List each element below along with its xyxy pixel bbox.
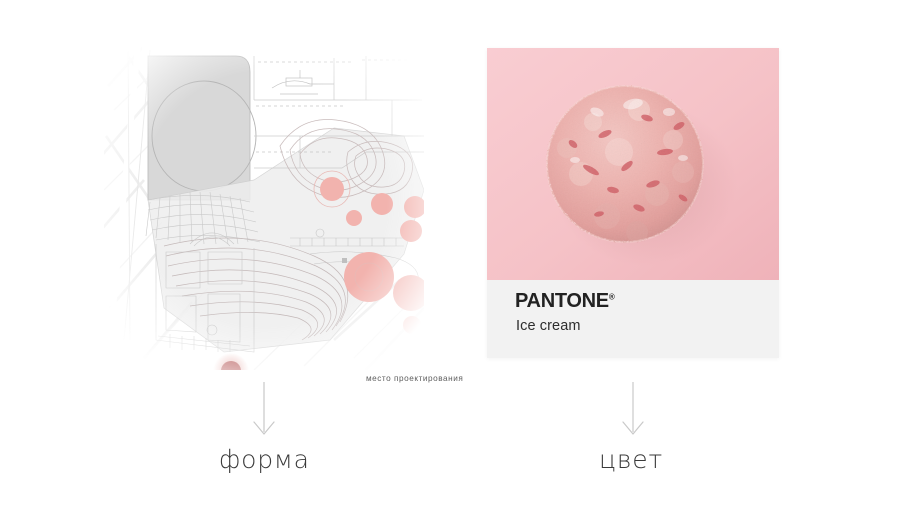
slide-canvas: место проектирования форма: [0, 0, 900, 506]
ice-cream-photo-graphic: [487, 48, 779, 280]
pantone-swatch-card: PANTONE® Ice cream: [487, 48, 779, 358]
caption-color: цвет: [599, 445, 663, 474]
site-plan-map: место проектирования: [104, 40, 424, 370]
pantone-wordmark: PANTONE®: [515, 290, 615, 313]
pantone-color-name: Ice cream: [516, 318, 581, 334]
registered-mark-icon: ®: [609, 292, 615, 301]
ice-cream-photo: [487, 48, 779, 280]
caption-form: форма: [219, 445, 310, 474]
pantone-meta: PANTONE® Ice cream: [487, 280, 779, 358]
map-annotation-label: место проектирования: [366, 374, 463, 383]
arrow-down-form: [249, 382, 279, 438]
pantone-brand-text: PANTONE: [515, 290, 609, 312]
arrow-down-color: [618, 382, 648, 438]
map-graphic: [104, 40, 424, 370]
